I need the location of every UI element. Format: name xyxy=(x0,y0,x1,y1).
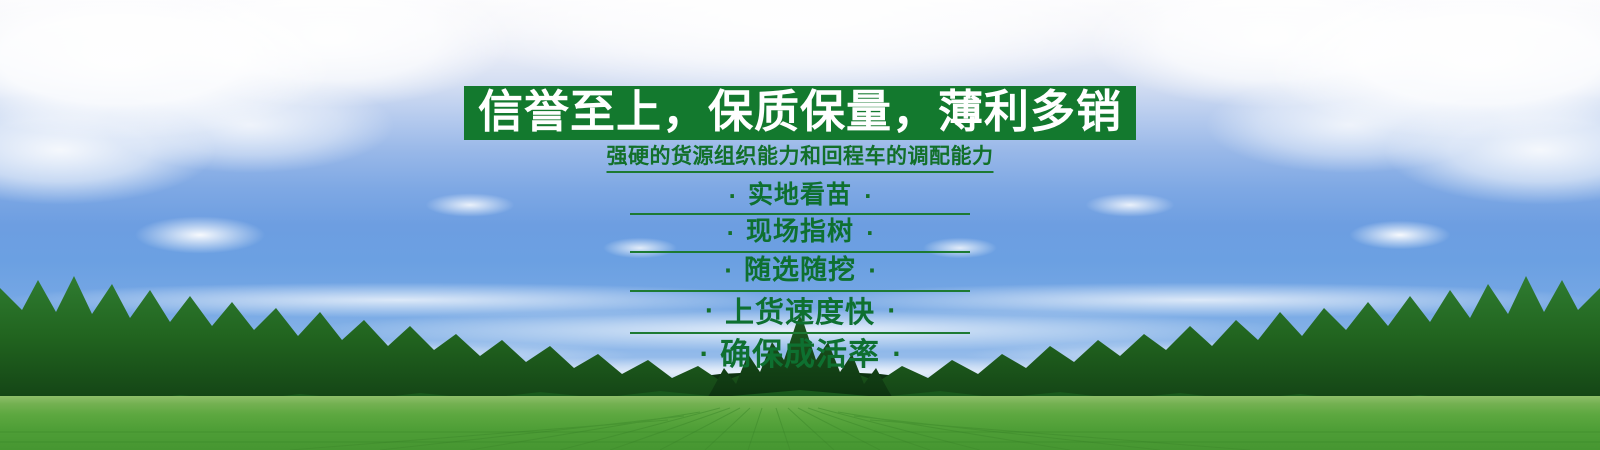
feature-item: · 实地看苗 · xyxy=(630,178,970,213)
bullet-dot-icon: · xyxy=(724,261,732,282)
feature-item: · 上货速度快 · xyxy=(630,290,970,332)
subtitle: 强硬的货源组织能力和回程车的调配能力 xyxy=(607,145,994,173)
feature-item: · 随选随挖 · xyxy=(630,251,970,290)
bullet-dot-icon: · xyxy=(699,344,708,367)
feature-item: · 确保成活率 · xyxy=(630,332,970,376)
headline-text: 信誉至上，保质保量，薄利多销 xyxy=(478,89,1122,134)
feature-label: 现场指树 xyxy=(734,219,866,246)
feature-label: 实地看苗 xyxy=(736,182,864,208)
promo-banner: 信誉至上，保质保量，薄利多销 强硬的货源组织能力和回程车的调配能力 · 实地看苗… xyxy=(0,0,1600,450)
feature-item: · 现场指树 · xyxy=(630,213,970,251)
headline-bar: 信誉至上，保质保量，薄利多销 xyxy=(464,86,1136,140)
feature-label: 上货速度快 xyxy=(713,297,887,327)
feature-list: · 实地看苗 · · 现场指树 · · 随选随挖 · · 上货速度快 · · xyxy=(630,178,970,376)
banner-content: 信誉至上，保质保量，薄利多销 强硬的货源组织能力和回程车的调配能力 · 实地看苗… xyxy=(0,0,1600,450)
feature-label: 确保成活率 xyxy=(708,339,892,372)
bullet-dot-icon: · xyxy=(887,301,895,323)
bullet-dot-icon: · xyxy=(864,186,872,206)
subtitle-text: 强硬的货源组织能力和回程车的调配能力 xyxy=(607,145,994,173)
bullet-dot-icon: · xyxy=(892,344,901,367)
bullet-dot-icon: · xyxy=(868,261,876,282)
bullet-dot-icon: · xyxy=(726,223,734,243)
bullet-dot-icon: · xyxy=(705,301,713,323)
bullet-dot-icon: · xyxy=(866,223,874,243)
feature-label: 随选随挖 xyxy=(732,257,868,285)
bullet-dot-icon: · xyxy=(728,186,736,206)
